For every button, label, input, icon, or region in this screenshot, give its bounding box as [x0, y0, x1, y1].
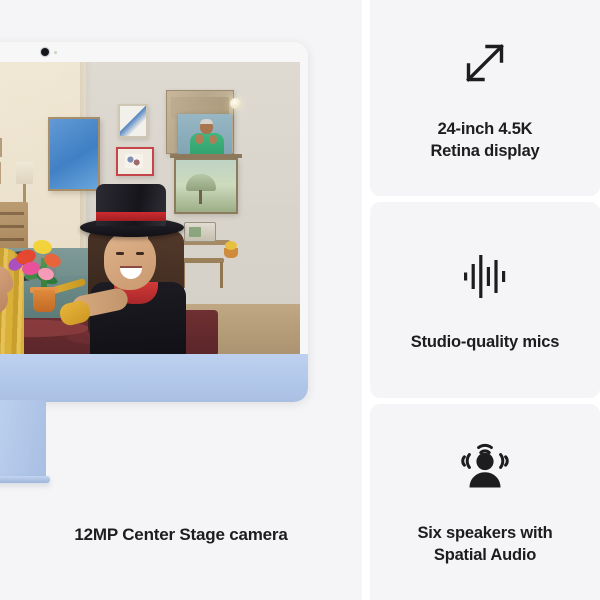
wall-lamp-light: [230, 98, 241, 109]
imac-body: [0, 42, 308, 402]
video-tile-person-hair: [200, 119, 213, 124]
wall-art-small-blue: [0, 138, 2, 157]
feature-card-label: Six speakers with Spatial Audio: [417, 523, 552, 565]
feature-card-studio-mics[interactable]: Studio-quality mics: [370, 202, 600, 398]
audio-waveform-icon: [456, 247, 514, 310]
camera-dot-icon: [41, 48, 49, 56]
small-plant: [224, 248, 238, 258]
feature-card-spatial-audio[interactable]: Six speakers with Spatial Audio: [370, 404, 600, 600]
girl-top-hat-band: [96, 212, 166, 221]
diagonal-resize-arrow-icon: [456, 34, 514, 97]
imac-stand-foot: [0, 476, 50, 483]
living-room-scene: [0, 62, 300, 354]
flower-pot: [33, 290, 55, 312]
imac-stand-neck: [0, 400, 46, 478]
video-tile-person-hand-left: [195, 134, 204, 144]
girl-eye-right: [136, 252, 144, 255]
camera-feature-panel: 12MP Center Stage camera: [0, 0, 362, 600]
product-feature-panel: 12MP Center Stage camera 24-inch 4.5K Re…: [0, 0, 600, 600]
spatial-audio-person-icon: [456, 438, 514, 501]
side-table-leg-right: [220, 262, 223, 288]
feature-card-label: 24-inch 4.5K Retina display: [430, 119, 539, 161]
feature-card-list: 24-inch 4.5K Retina display Studio-quali…: [370, 0, 600, 600]
wall-art-blue-canvas: [48, 117, 100, 191]
feature-card-retina-display[interactable]: 24-inch 4.5K Retina display: [370, 0, 600, 196]
girl-face: [104, 232, 156, 290]
feature-card-label: Studio-quality mics: [411, 332, 559, 353]
girl-eye-left: [116, 252, 124, 255]
wall-art-framed-print: [118, 104, 148, 138]
imac-screen-photo: [0, 62, 300, 354]
video-call-tile: [178, 114, 232, 158]
wall-art-red-frame: [116, 147, 154, 176]
camera-indicator-icon: [54, 51, 57, 54]
camera-feature-caption: 12MP Center Stage camera: [0, 525, 362, 545]
imac-bezel: [0, 42, 308, 354]
imac-chin: [0, 354, 308, 402]
girl-magician: [78, 190, 218, 354]
video-tile-person-hand-right: [209, 135, 217, 144]
imac-device-illustration: [0, 42, 308, 462]
